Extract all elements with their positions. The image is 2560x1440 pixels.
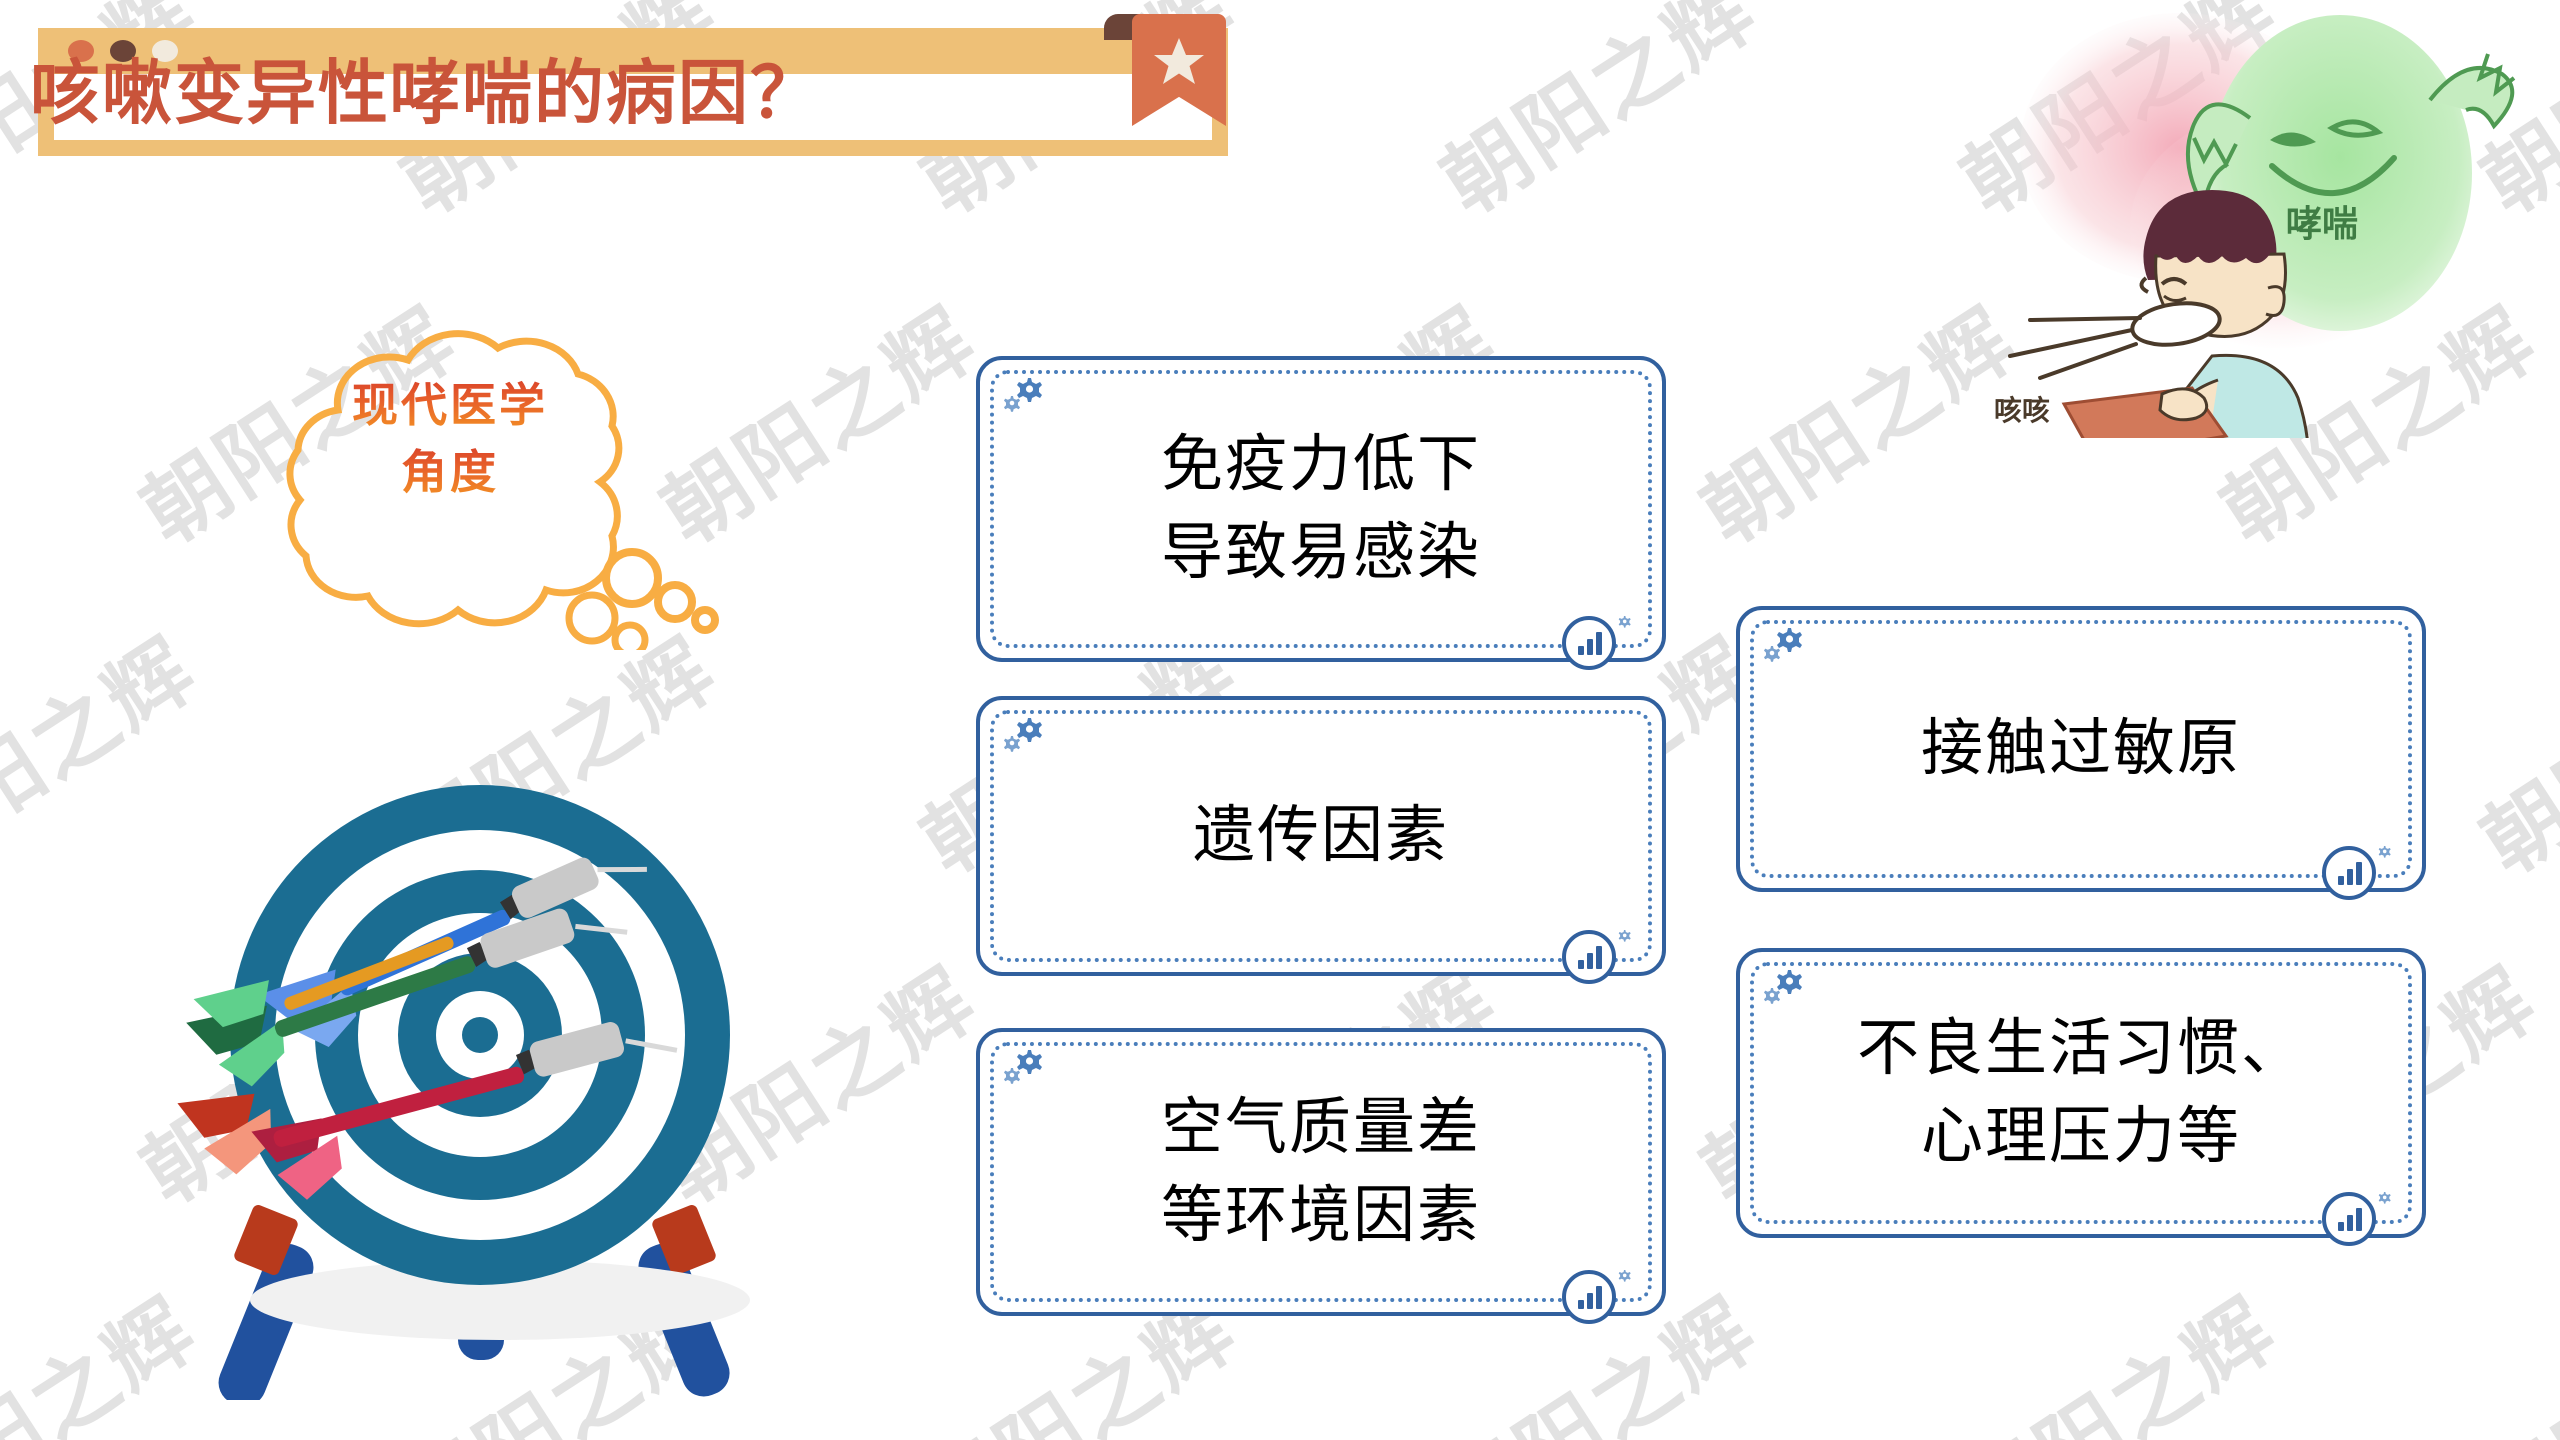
gear-icon (998, 1044, 1046, 1088)
watermark-text: 朝阳之辉 (635, 274, 996, 567)
watermark-text: 朝阳之辉 (2455, 1264, 2560, 1440)
cloud-line-1: 现代医学 (240, 372, 660, 439)
bar-chart-icon[interactable] (1562, 610, 1638, 672)
watermark-text: 朝阳之辉 (2455, 604, 2560, 897)
gear-icon (1758, 964, 1806, 1008)
watermark-text: 朝阳之辉 (1415, 0, 1776, 237)
fact-line-1: 接触过敏原 (1921, 705, 2241, 793)
dartboard-with-darts-icon (170, 640, 790, 1400)
gear-icon (998, 372, 1046, 416)
bar-chart-icon[interactable] (2322, 840, 2398, 902)
monster-label: 哮喘 (2286, 203, 2358, 244)
fact-box-text: 接触过敏原 (1740, 610, 2422, 888)
cloud-text-block: 现代医学 角度 (240, 372, 660, 505)
fact-line-2: 心理压力等 (1921, 1093, 2241, 1181)
fact-line-1: 不良生活习惯、 (1857, 1005, 2305, 1093)
cough-label-left: 咳咳 (1994, 394, 2050, 426)
bar-chart-icon[interactable] (1562, 924, 1638, 986)
star-icon (1152, 36, 1206, 88)
gear-icon (1758, 622, 1806, 666)
watermark-text: 朝阳之辉 (1935, 1264, 2296, 1440)
fact-box-text: 免疫力低下 导致易感染 (980, 360, 1662, 658)
fact-line-2: 等环境因素 (1161, 1172, 1481, 1260)
fact-line-2: 导致易感染 (1161, 509, 1481, 597)
fact-box-immunity[interactable]: 免疫力低下 导致易感染 (976, 356, 1666, 662)
gear-icon (998, 712, 1046, 756)
coughing-boy-asthma-monster-icon: 哮喘 (1950, 0, 2560, 438)
fact-box-environment[interactable]: 空气质量差 等环境因素 (976, 1028, 1666, 1316)
bar-chart-icon[interactable] (1562, 1264, 1638, 1326)
slide-canvas: 朝阳之辉朝阳之辉朝阳之辉朝阳之辉朝阳之辉朝阳之辉朝阳之辉朝阳之辉朝阳之辉朝阳之辉… (0, 0, 2560, 1440)
fact-box-genetics[interactable]: 遗传因素 (976, 696, 1666, 976)
fact-line-1: 遗传因素 (1193, 792, 1449, 880)
fact-box-allergen[interactable]: 接触过敏原 (1736, 606, 2426, 892)
fact-box-text: 不良生活习惯、 心理压力等 (1740, 952, 2422, 1234)
cloud-line-2: 角度 (240, 439, 660, 506)
bar-chart-icon[interactable] (2322, 1186, 2398, 1248)
bookmark-star-icon[interactable] (1132, 14, 1226, 134)
fact-line-1: 免疫力低下 (1161, 421, 1481, 509)
fact-box-text: 遗传因素 (980, 700, 1662, 972)
fact-line-1: 空气质量差 (1161, 1084, 1481, 1172)
fact-box-text: 空气质量差 等环境因素 (980, 1032, 1662, 1312)
fact-box-lifestyle[interactable]: 不良生活习惯、 心理压力等 (1736, 948, 2426, 1238)
page-title: 咳嗽变异性哮喘的病因？ (16, 46, 1176, 128)
cough-lines (2010, 318, 2140, 378)
thought-bubble-trail-icon (592, 530, 742, 650)
